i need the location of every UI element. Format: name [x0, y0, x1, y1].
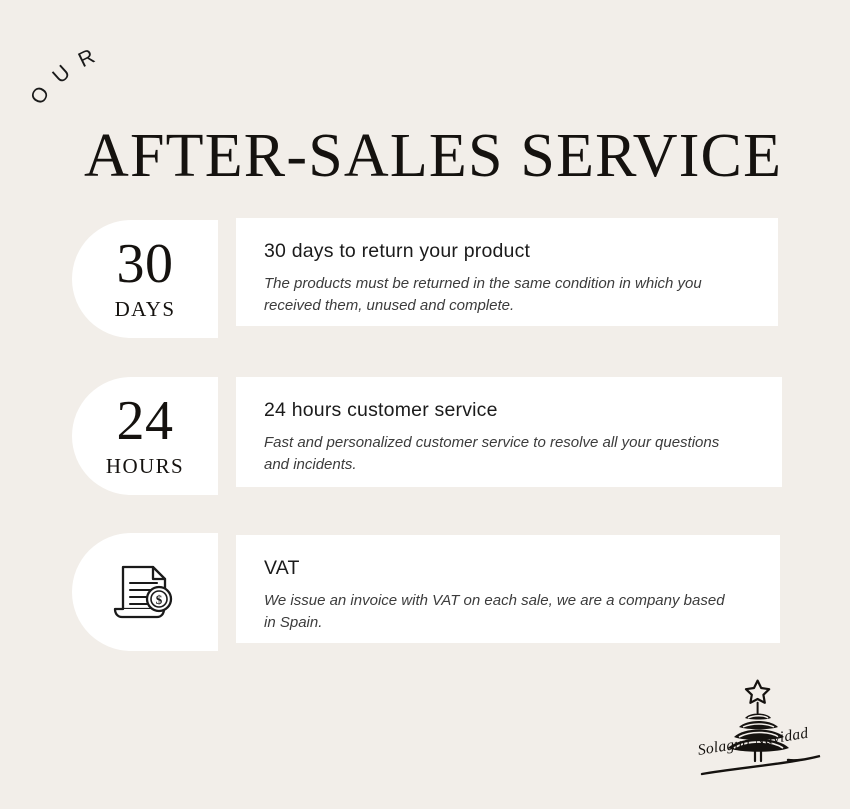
badge-number: 30	[117, 238, 174, 291]
eyebrow-our-arc: O U R	[28, 40, 138, 120]
feature-badge: $	[72, 533, 218, 651]
feature-title: VAT	[264, 557, 752, 580]
poster-root: O U R AFTER-SALES SERVICE 30 DAYS 30 day…	[0, 0, 850, 809]
feature-row: 24 HOURS 24 hours customer service Fast …	[0, 375, 850, 499]
badge-unit: DAYS	[115, 297, 176, 322]
eyebrow-letter-1: U	[49, 62, 74, 88]
feature-row: $ VAT We issue an invoice with VAT on ea…	[0, 531, 850, 655]
header: O U R AFTER-SALES SERVICE	[0, 0, 850, 190]
feature-title: 30 days to return your product	[264, 240, 750, 263]
feature-description: We issue an invoice with VAT on each sal…	[264, 590, 734, 634]
page-title: AFTER-SALES SERVICE	[84, 124, 782, 189]
eyebrow-letter-2: R	[75, 46, 98, 72]
feature-description: Fast and personalized customer service t…	[264, 432, 734, 476]
brand-logo: Solagua Navidad	[692, 668, 842, 800]
feature-card: VAT We issue an invoice with VAT on each…	[236, 535, 780, 643]
feature-badge: 30 DAYS	[72, 220, 218, 338]
feature-description: The products must be returned in the sam…	[264, 273, 734, 317]
eyebrow-letter-0: O	[27, 83, 53, 108]
feature-badge: 24 HOURS	[72, 377, 218, 495]
feature-card: 24 hours customer service Fast and perso…	[236, 377, 782, 487]
feature-title: 24 hours customer service	[264, 399, 754, 422]
badge-number: 24	[117, 395, 174, 448]
feature-row: 30 DAYS 30 days to return your product T…	[0, 218, 850, 342]
badge-unit: HOURS	[106, 454, 184, 479]
invoice-dollar-icon: $	[109, 556, 181, 628]
feature-card: 30 days to return your product The produ…	[236, 218, 778, 326]
svg-text:$: $	[156, 592, 163, 607]
